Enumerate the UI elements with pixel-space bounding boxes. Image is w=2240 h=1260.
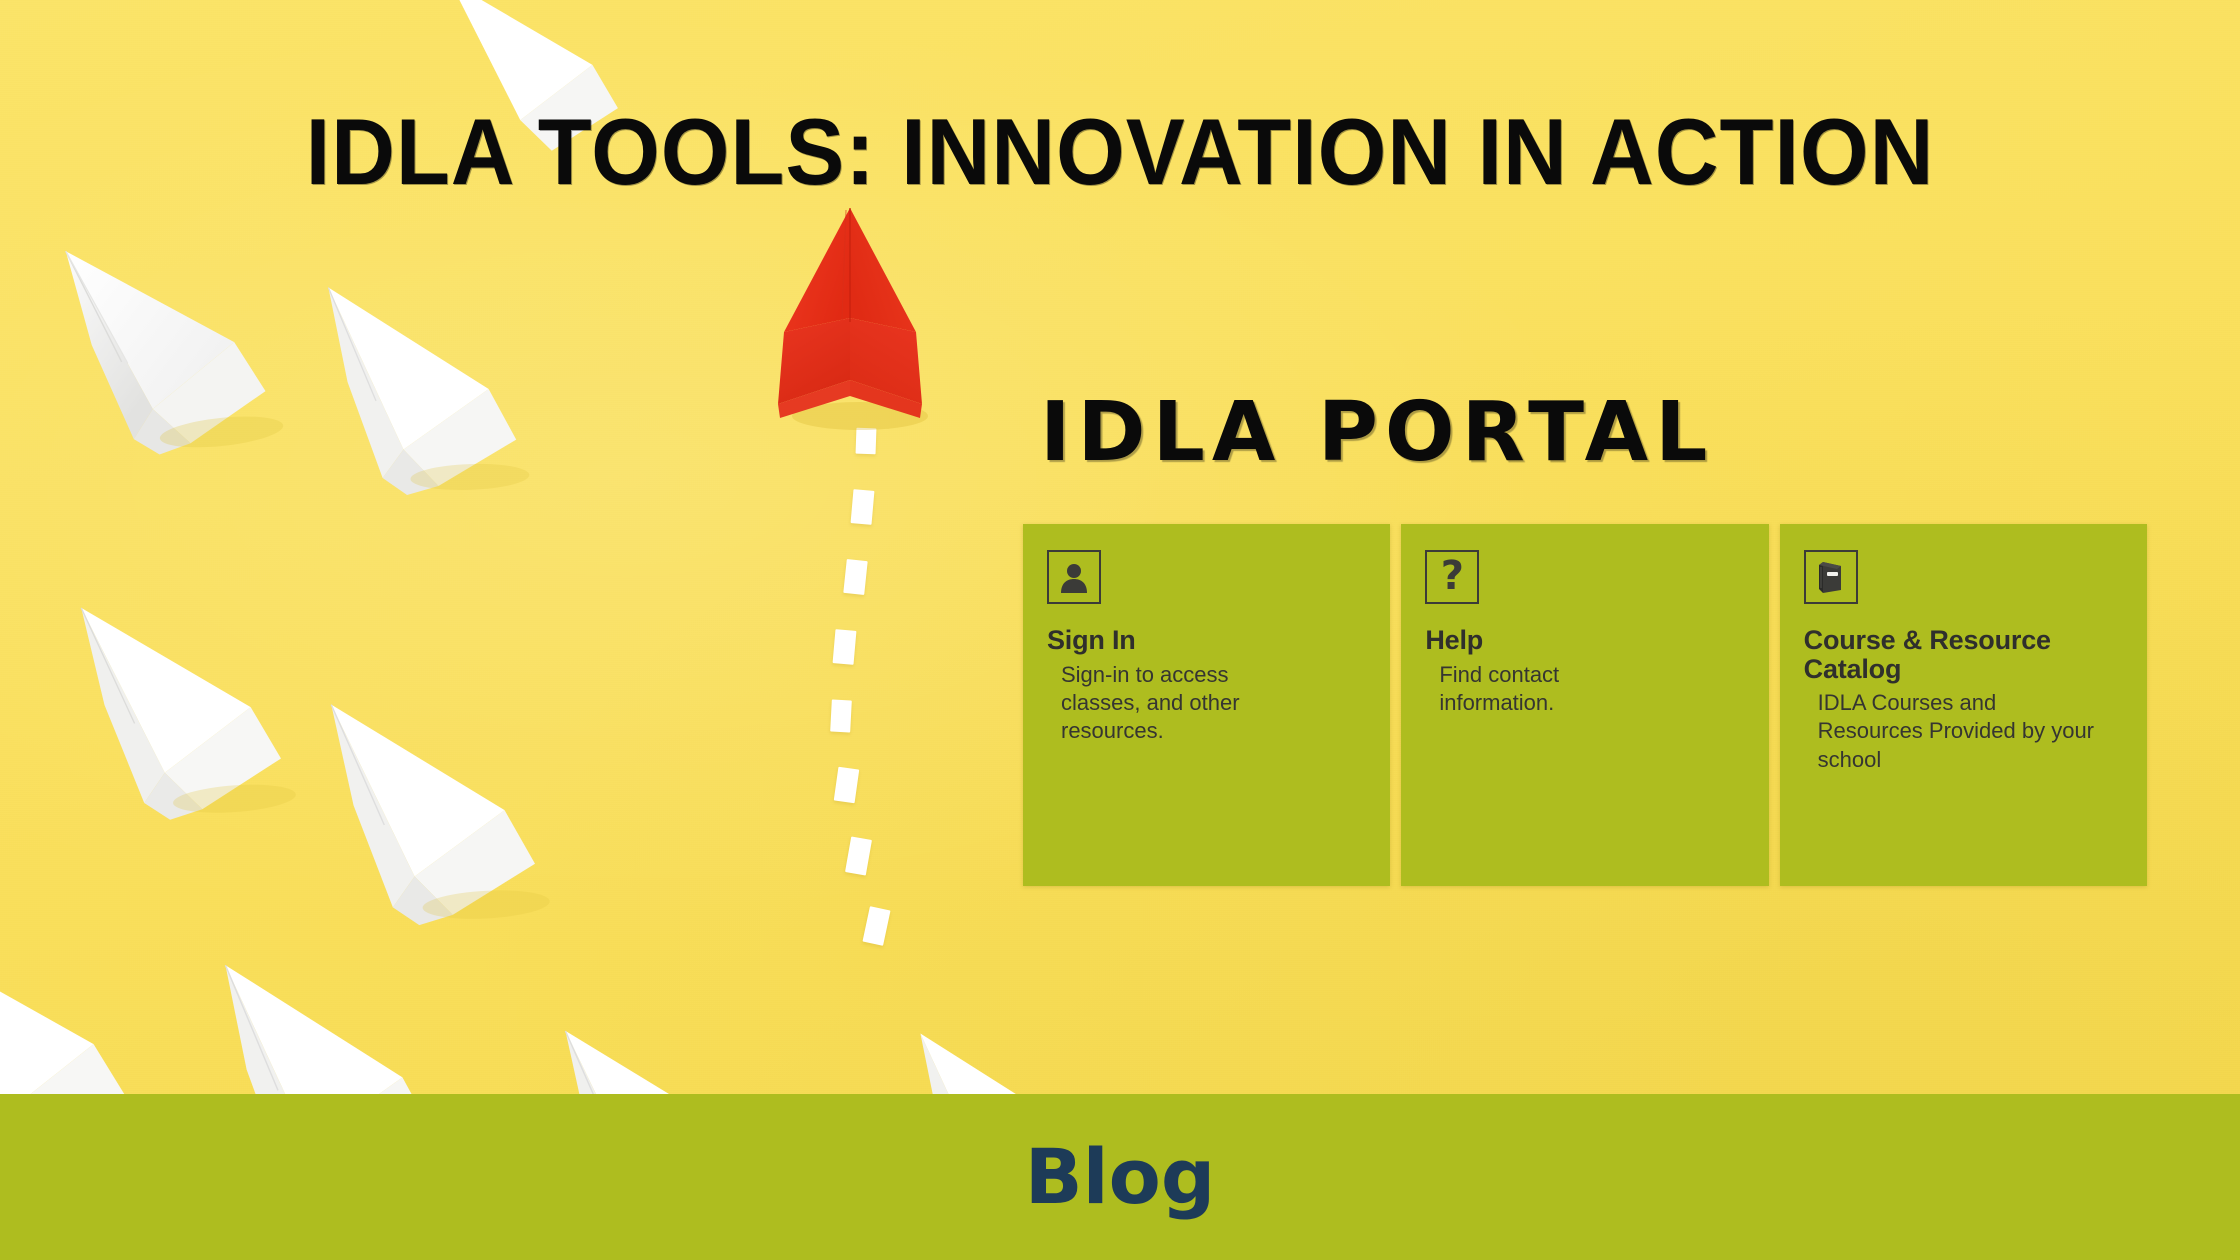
card-description: Sign-in to access classes, and other res… [1061,661,1291,745]
poster-canvas: IDLA TOOLS: INNOVATION IN ACTION IDLA PO… [0,0,2240,1260]
blog-bar[interactable]: Blog [0,1094,2240,1260]
portal-card-deck: Sign In Sign-in to access classes, and o… [1023,524,2147,886]
card-title: Help [1425,626,1744,655]
portal-wordmark: IDLA PORTAL [1040,392,1714,474]
question-mark-glyph: ? [1441,556,1464,596]
book-icon [1804,550,1858,604]
card-sign-in[interactable]: Sign In Sign-in to access classes, and o… [1023,524,1390,886]
card-help[interactable]: ? Help Find contact information. [1401,524,1768,886]
question-mark-icon: ? [1425,550,1479,604]
page-title: IDLA TOOLS: INNOVATION IN ACTION [67,105,2173,199]
card-title: Course & Resource Catalog [1804,626,2123,683]
card-description: Find contact information. [1439,661,1669,717]
card-title: Sign In [1047,626,1366,655]
card-course-resource-catalog[interactable]: Course & Resource Catalog IDLA Courses a… [1780,524,2147,886]
user-icon [1047,550,1101,604]
card-description: IDLA Courses and Resources Provided by y… [1818,689,2098,773]
blog-label: Blog [1025,1139,1216,1215]
